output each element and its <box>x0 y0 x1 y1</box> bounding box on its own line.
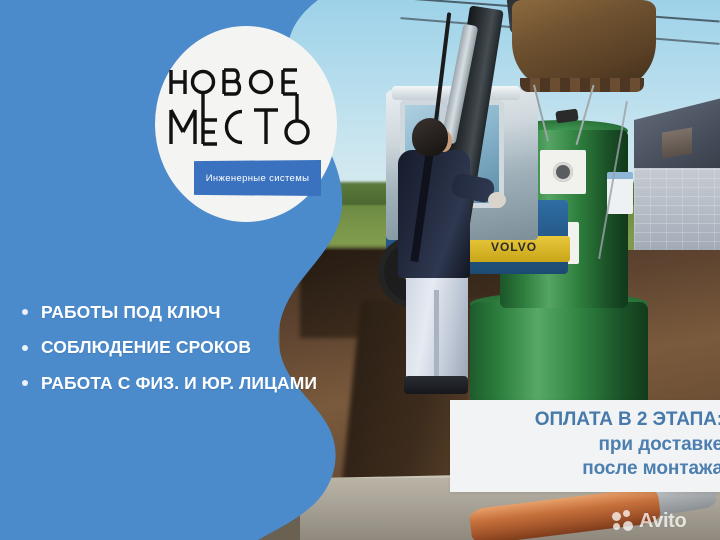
worker-shoes <box>404 376 468 394</box>
worker-head <box>412 118 448 156</box>
logo-wordmark-icon <box>166 62 326 154</box>
machine-brand-label: VOLVO <box>474 238 554 256</box>
list-item: РАБОТА С ФИЗ. И ЮР. ЛИЦАМИ <box>22 374 372 392</box>
avito-logo-icon <box>612 510 636 532</box>
bullet-dot-icon <box>22 345 28 351</box>
benefit-label: РАБОТА С ФИЗ. И ЮР. ЛИЦАМИ <box>41 374 317 392</box>
payment-stage-1: при доставке <box>460 433 720 458</box>
payment-stage-2: после монтажа <box>460 457 720 482</box>
tank-label-plate-upper <box>540 150 586 194</box>
bullet-dot-icon <box>22 309 28 315</box>
benefit-label: СОБЛЮДЕНИЕ СРОКОВ <box>41 338 251 356</box>
avito-watermark: Avito <box>612 508 686 534</box>
excavator-bucket <box>512 0 656 88</box>
bucket-teeth <box>520 78 644 92</box>
logo-tagline-badge: Инженерные системы <box>194 160 321 196</box>
benefits-list: РАБОТЫ ПОД КЛЮЧ СОБЛЮДЕНИЕ СРОКОВ РАБОТА… <box>22 303 372 409</box>
avito-wordmark: Avito <box>639 510 686 533</box>
payment-heading: ОПЛАТА В 2 ЭТАПА: <box>460 408 720 433</box>
brand-logo: Инженерные системы <box>166 62 326 202</box>
list-item: РАБОТЫ ПОД КЛЮЧ <box>22 303 372 321</box>
worker-hand <box>488 192 506 208</box>
list-item: СОБЛЮДЕНИЕ СРОКОВ <box>22 338 372 356</box>
house-chimney <box>662 127 692 158</box>
benefit-label: РАБОТЫ ПОД КЛЮЧ <box>41 303 221 321</box>
bullet-dot-icon <box>22 380 28 386</box>
worker-jacket <box>398 150 470 278</box>
logo-tagline-text: Инженерные системы <box>206 173 310 184</box>
payment-terms-callout: ОПЛАТА В 2 ЭТАПА: при доставке после мон… <box>450 400 720 492</box>
advertisement-banner: VOLVO <box>0 0 720 540</box>
worker-leg-seam <box>434 290 439 384</box>
